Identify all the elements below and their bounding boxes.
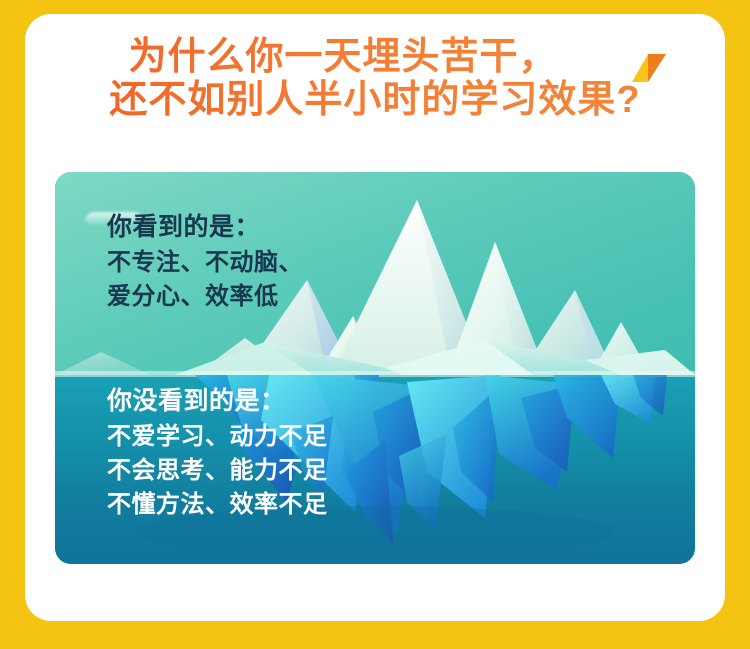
page-title: 为什么你一天埋头苦干， 还不如别人半小时的学习效果?	[25, 36, 725, 123]
title-line-2: 还不如别人半小时的学习效果?	[25, 79, 725, 122]
above-water-heading: 你看到的是：	[107, 210, 303, 246]
iceberg-card: 你看到的是： 不专注、不动脑、 爱分心、效率低 你没看到的是： 不爱学习、动力不…	[55, 172, 695, 564]
below-water-line-1: 不爱学习、动力不足	[107, 420, 328, 454]
above-water-line-1: 不专注、不动脑、	[107, 246, 303, 280]
below-water-line-3: 不懂方法、效率不足	[107, 488, 328, 522]
above-water-line-2: 爱分心、效率低	[107, 280, 303, 314]
below-water-heading: 你没看到的是：	[107, 384, 328, 420]
below-water-text-block: 你没看到的是： 不爱学习、动力不足 不会思考、能力不足 不懂方法、效率不足	[107, 384, 328, 522]
rhombus-mark-icon	[622, 48, 674, 82]
title-line-1: 为什么你一天埋头苦干，	[25, 36, 725, 79]
below-water-line-2: 不会思考、能力不足	[107, 454, 328, 488]
above-water-text-block: 你看到的是： 不专注、不动脑、 爱分心、效率低	[107, 210, 303, 314]
poster-root: 为什么你一天埋头苦干， 还不如别人半小时的学习效果?	[0, 0, 750, 649]
